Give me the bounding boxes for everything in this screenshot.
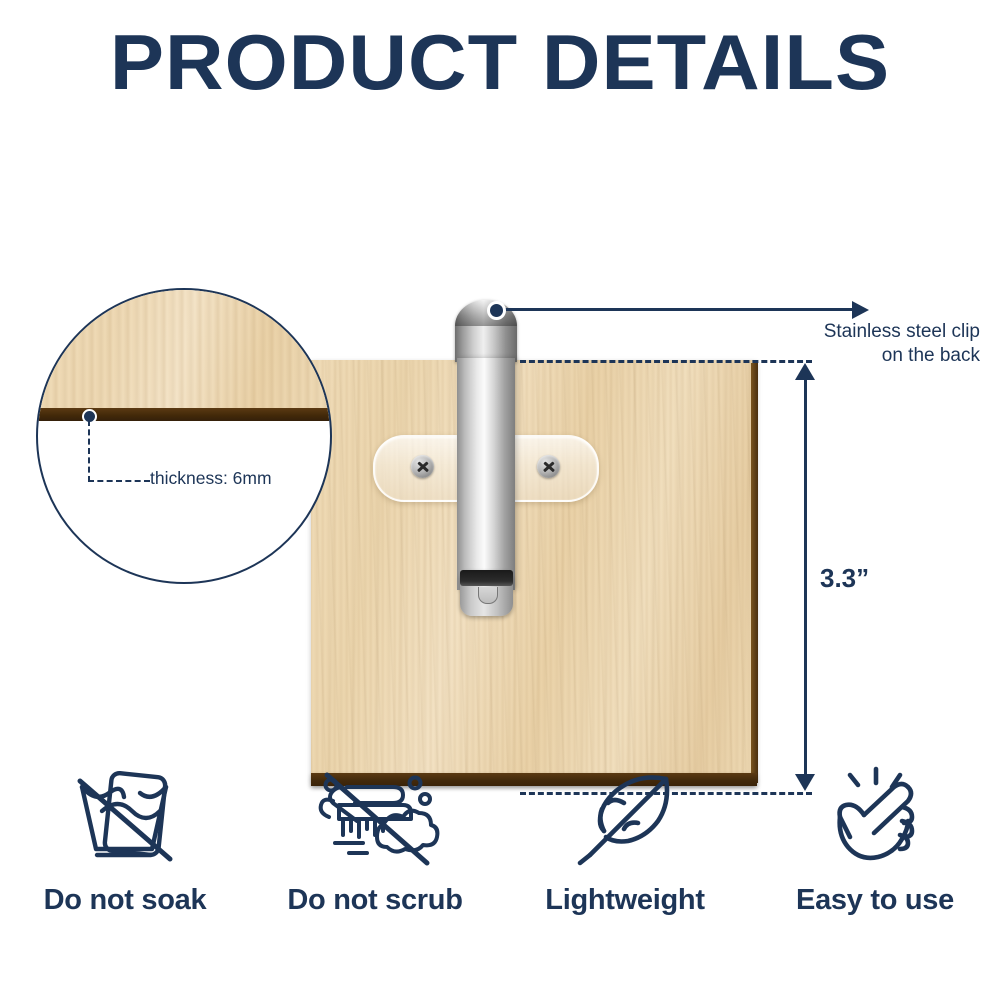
feature-row: Do not soak Do not scrub: [0, 758, 1000, 958]
pointing-hand-icon: [816, 758, 934, 878]
wood-grain-texture: [311, 360, 757, 785]
thickness-label: thickness: 6mm: [150, 468, 272, 489]
clip-callout-arrowhead: [852, 301, 869, 319]
dimension-arrow-up-icon: [795, 363, 815, 380]
no-scrub-icon: [305, 758, 445, 878]
feature-label: Do not soak: [44, 884, 207, 917]
infographic-canvas: PRODUCT DETAILS thickness: 6mm: [0, 0, 1000, 1000]
clip-foot-shadow: [460, 570, 513, 586]
no-soak-icon: [66, 758, 184, 878]
dimension-guide-top: [520, 360, 812, 363]
wood-board: [311, 360, 757, 785]
stainless-steel-clip: [457, 358, 515, 590]
feature-label: Lightweight: [545, 884, 704, 917]
feature-lightweight: Lightweight: [500, 758, 750, 958]
page-title: PRODUCT DETAILS: [0, 22, 1000, 104]
thickness-leader-horizontal: [88, 480, 150, 482]
feature-label: Do not scrub: [287, 884, 462, 917]
feature-label: Easy to use: [796, 884, 954, 917]
board-right-edge: [751, 363, 758, 783]
clip-hook-shading: [455, 300, 517, 326]
clip-callout-line: [500, 308, 855, 311]
dimension-label: 3.3”: [820, 563, 869, 594]
thickness-leader-vertical: [88, 420, 90, 482]
thickness-detail-magnifier: thickness: 6mm: [36, 288, 332, 584]
clip-callout-line2: on the back: [882, 345, 980, 366]
screw-left-icon: [411, 455, 434, 478]
clip-callout-dot: [487, 301, 506, 320]
product-illustration: thickness: 6mm Stainless steel clip on t…: [0, 120, 1000, 740]
magnified-wood-surface: [38, 290, 330, 418]
feather-icon: [566, 758, 684, 878]
feature-do-not-soak: Do not soak: [0, 758, 250, 958]
clip-callout-line1: Stainless steel clip: [824, 321, 980, 342]
feature-do-not-scrub: Do not scrub: [250, 758, 500, 958]
dimension-line: [804, 378, 807, 774]
clip-foot-notch: [478, 587, 498, 604]
feature-easy-to-use: Easy to use: [750, 758, 1000, 958]
screw-right-icon: [537, 455, 560, 478]
